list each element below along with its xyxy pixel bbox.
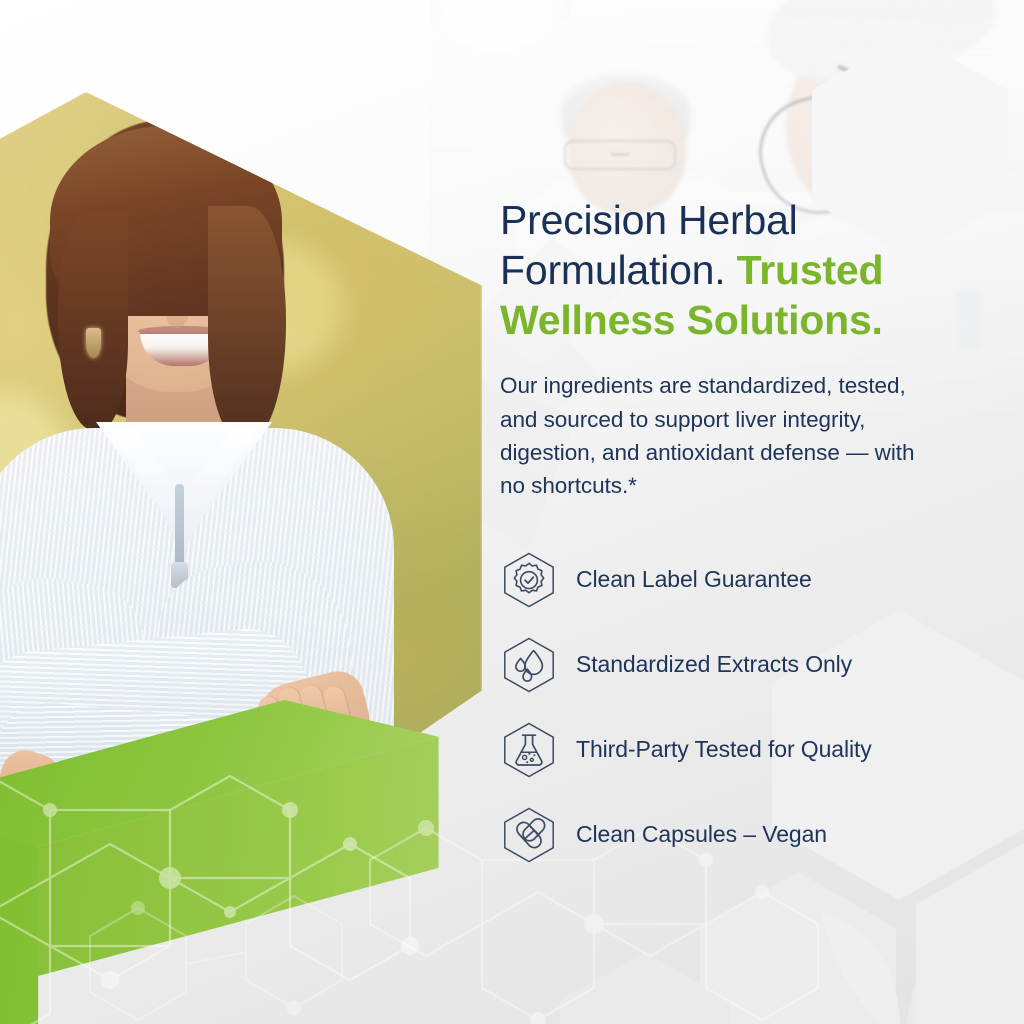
- feature-item-third-party-tested: Third-Party Tested for Quality: [500, 718, 970, 782]
- capsules-icon: [500, 806, 558, 864]
- content-panel: Precision Herbal Formulation. Trusted We…: [500, 196, 970, 867]
- pharmacist-glasses-icon: [564, 140, 676, 170]
- feature-label: Third-Party Tested for Quality: [576, 736, 872, 763]
- feature-list: Clean Label Guarantee Standardized Extra…: [500, 548, 970, 867]
- woman-earring: [86, 328, 101, 358]
- headline-line-2-dark: Formulation.: [500, 247, 725, 293]
- headline-line-3-green: Wellness Solutions.: [500, 297, 883, 343]
- lab-flask-icon: [500, 721, 558, 779]
- woman-zipper: [175, 484, 184, 574]
- seal-check-icon: [500, 551, 558, 609]
- page-title: Precision Herbal Formulation. Trusted We…: [500, 196, 970, 345]
- feature-item-standardized-extracts: Standardized Extracts Only: [500, 633, 970, 697]
- headline-line-2-green: Trusted: [725, 247, 883, 293]
- feature-label: Clean Label Guarantee: [576, 566, 812, 593]
- feature-label: Clean Capsules – Vegan: [576, 821, 827, 848]
- feature-item-clean-label: Clean Label Guarantee: [500, 548, 970, 612]
- feature-label: Standardized Extracts Only: [576, 651, 852, 678]
- feature-item-clean-capsules: Clean Capsules – Vegan: [500, 803, 970, 867]
- subcopy-paragraph: Our ingredients are standardized, tested…: [500, 369, 940, 501]
- headline-line-1: Precision Herbal: [500, 197, 798, 243]
- marketing-banner: Precision Herbal Formulation. Trusted We…: [0, 0, 1024, 1024]
- water-droplets-icon: [500, 636, 558, 694]
